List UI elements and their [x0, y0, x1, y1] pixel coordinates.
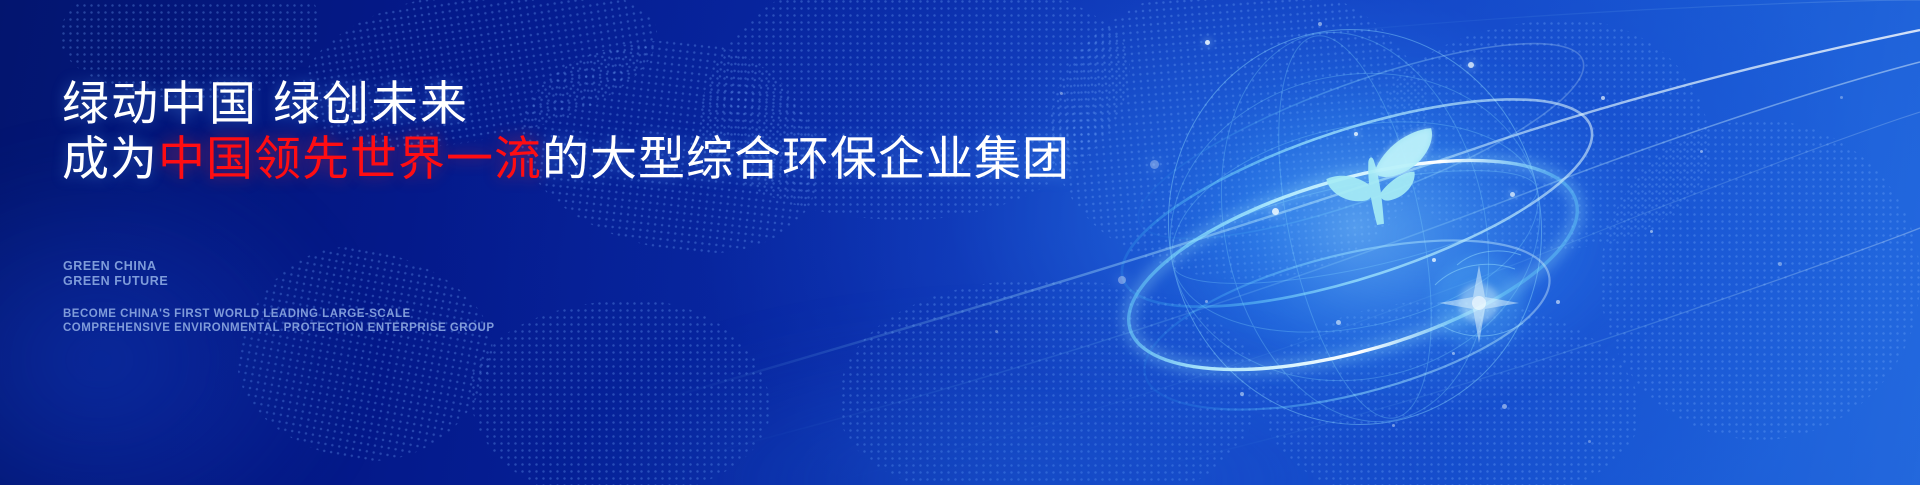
hero-banner: 绿动中国 绿创未来 成为中国领先世界一流的大型综合环保企业集团 GREEN CH…	[0, 0, 1920, 485]
globe-graphic	[1075, 0, 1635, 485]
subtitle-en-short: GREEN CHINA GREEN FUTURE	[63, 259, 168, 290]
map-landmass	[1260, 300, 1640, 485]
subtitle-en-long-line-1: BECOME CHINA'S FIRST WORLD LEADING LARGE…	[63, 307, 495, 321]
sprout-icon	[1321, 128, 1446, 232]
headline-line-1: 绿动中国 绿创未来	[62, 78, 469, 131]
map-landmass	[1600, 120, 1920, 440]
map-landmass	[1040, 0, 1440, 293]
banner-copy: 绿动中国 绿创未来 成为中国领先世界一流的大型综合环保企业集团 GREEN CH…	[58, 0, 1058, 485]
subtitle-en-short-line-2: GREEN FUTURE	[63, 274, 168, 289]
headline-line-2-prefix: 成为	[62, 132, 158, 185]
background-glow-core	[1160, 70, 1680, 400]
headline-line-2-suffix: 的大型综合环保企业集团	[542, 132, 1070, 185]
headline-line-2-highlight: 中国领先世界一流	[158, 132, 542, 185]
headline-line-2: 成为中国领先世界一流的大型综合环保企业集团	[62, 133, 1070, 186]
subtitle-en-long-line-2: COMPREHENSIVE ENVIRONMENTAL PROTECTION E…	[63, 321, 495, 335]
subtitle-en-long: BECOME CHINA'S FIRST WORLD LEADING LARGE…	[63, 307, 495, 336]
map-landmass	[1380, 20, 1710, 250]
subtitle-en-short-line-1: GREEN CHINA	[63, 259, 168, 274]
